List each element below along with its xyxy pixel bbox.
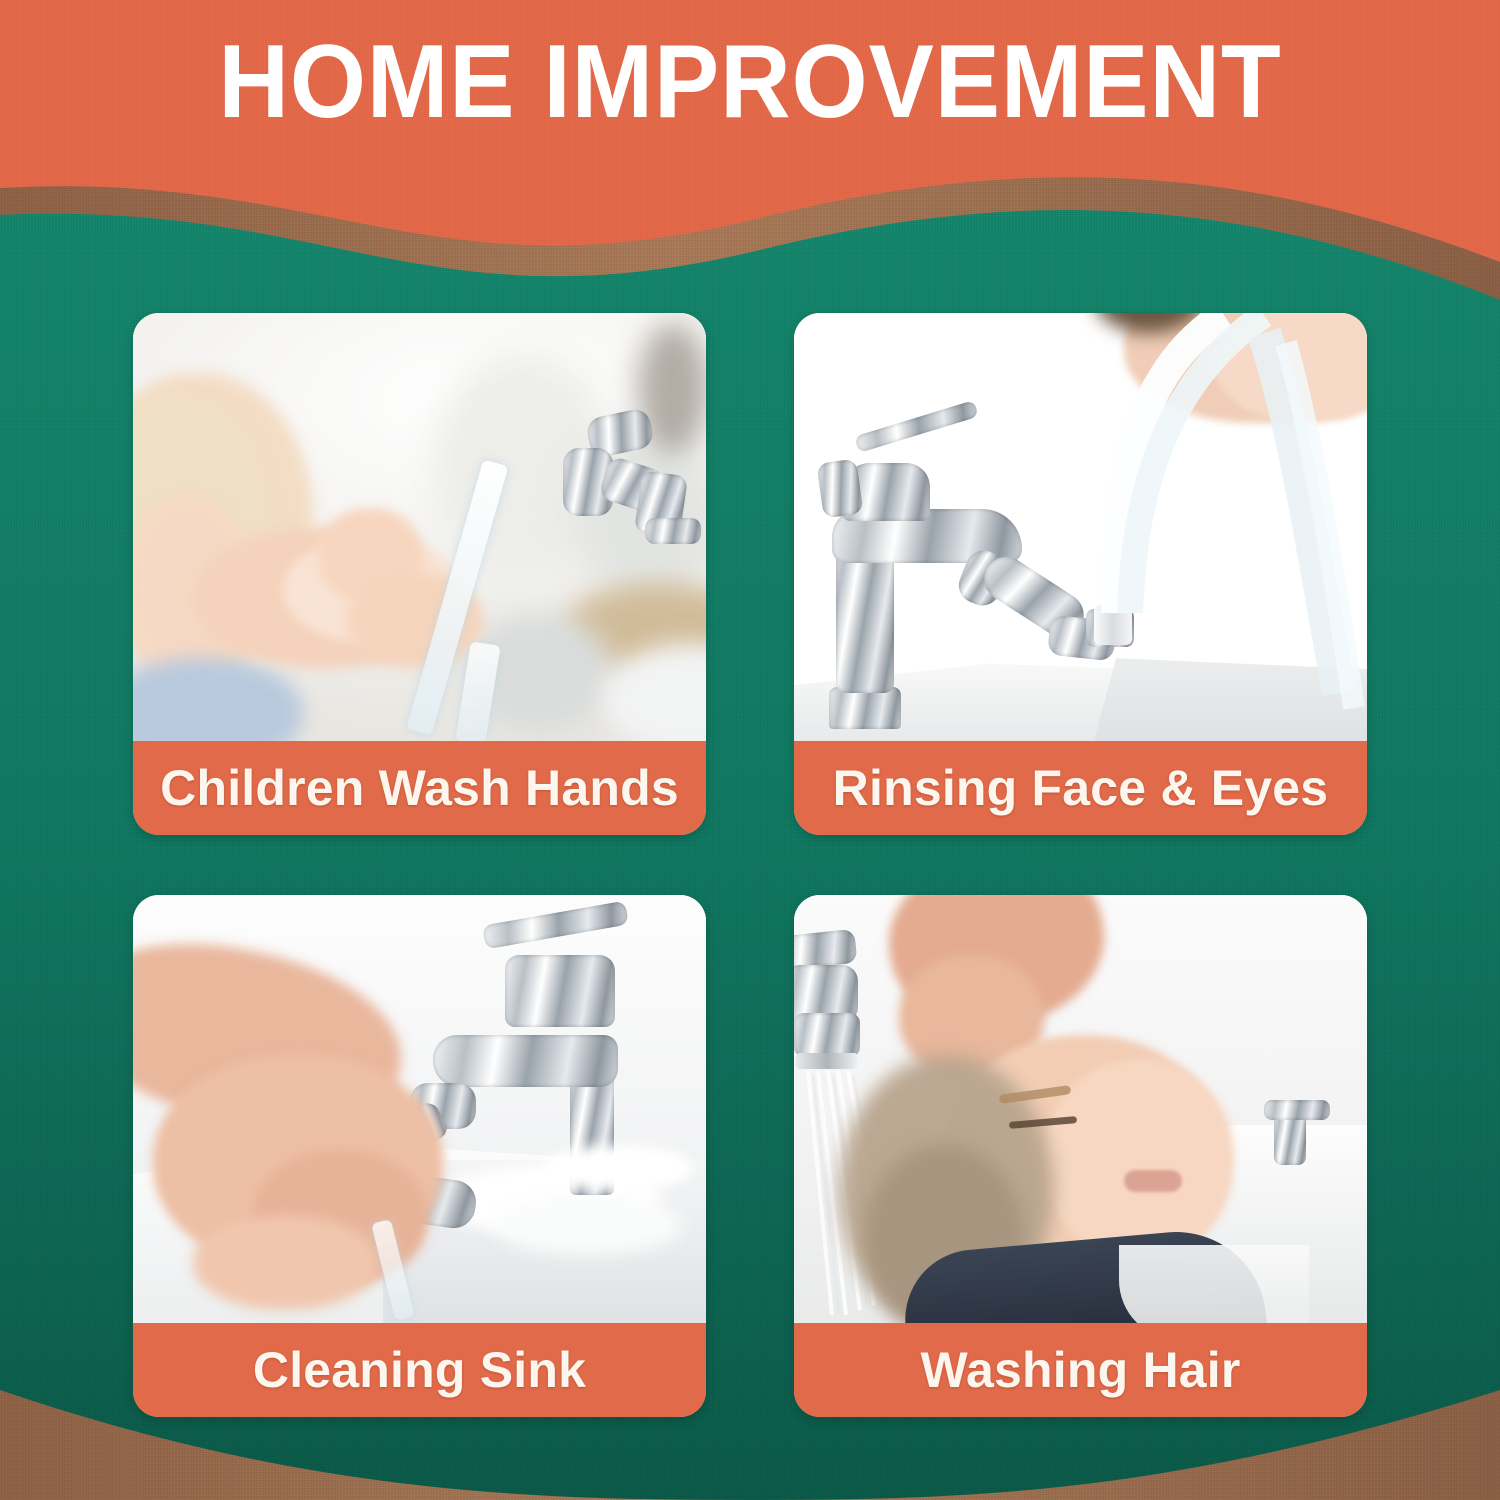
card-photo-children-wash-hands xyxy=(133,313,706,741)
card-photo-rinsing-face-eyes xyxy=(794,313,1367,741)
use-case-card-children-wash-hands[interactable]: Children Wash Hands xyxy=(133,313,706,835)
use-case-card-washing-hair[interactable]: Washing Hair xyxy=(794,895,1367,1417)
use-case-card-cleaning-sink[interactable]: Cleaning Sink xyxy=(133,895,706,1417)
card-photo-cleaning-sink xyxy=(133,895,706,1323)
use-case-card-rinsing-face-eyes[interactable]: Rinsing Face & Eyes xyxy=(794,313,1367,835)
product-infographic-poster: HOME IMPROVEMENT xyxy=(0,0,1500,1500)
card-label-cleaning-sink: Cleaning Sink xyxy=(133,1323,706,1417)
use-case-card-grid: Children Wash Hands xyxy=(133,313,1367,1417)
card-label-washing-hair: Washing Hair xyxy=(794,1323,1367,1417)
page-title: HOME IMPROVEMENT xyxy=(45,26,1455,138)
card-label-rinsing-face-eyes: Rinsing Face & Eyes xyxy=(794,741,1367,835)
card-photo-washing-hair xyxy=(794,895,1367,1323)
card-label-children-wash-hands: Children Wash Hands xyxy=(133,741,706,835)
